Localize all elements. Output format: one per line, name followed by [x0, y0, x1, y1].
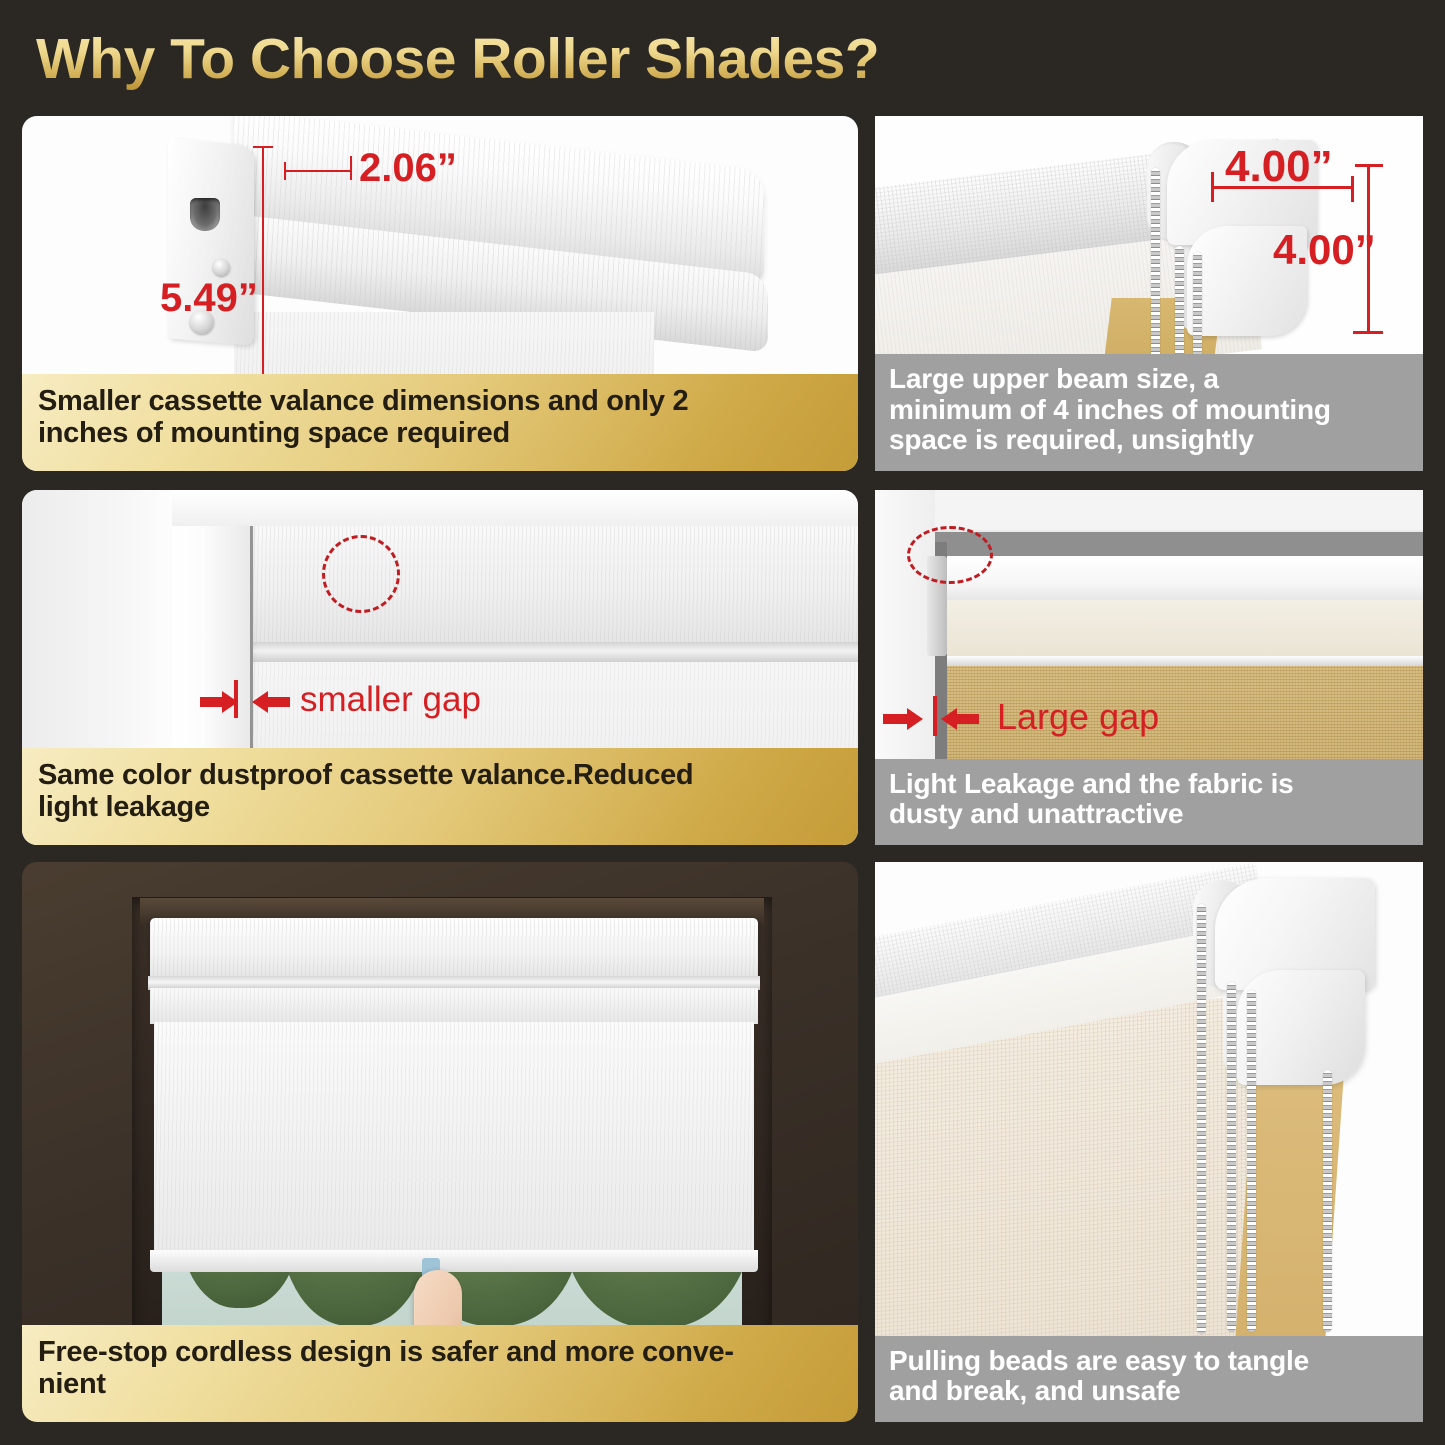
smaller-gap-label: smaller gap: [300, 680, 481, 720]
caption-line: minimum of 4 inches of mounting: [889, 395, 1409, 425]
caption-line: dusty and unattractive: [889, 799, 1409, 829]
panel-1-caption: Smaller cassette valance dimensions and …: [22, 374, 858, 471]
beam-width-label: 4.00”: [1225, 142, 1333, 192]
gap-highlight-ellipse: [907, 526, 993, 584]
panel-4-caption: Light Leakage and the fabric is dusty an…: [875, 759, 1423, 845]
panel-cassette-dimensions: 5.49” 2.06” Smaller cassette valance dim…: [22, 116, 858, 471]
caption-line: nient: [38, 1369, 842, 1400]
panel-pull-beads: Pulling beads are easy to tangle and bre…: [875, 862, 1423, 1422]
caption-line: space is required, unsightly: [889, 425, 1409, 455]
bead-chain-icon: [1247, 990, 1256, 1332]
bead-chain-icon: [1323, 1070, 1332, 1332]
panel-5-caption: Free-stop cordless design is safer and m…: [22, 1325, 858, 1422]
caption-line: inches of mounting space required: [38, 418, 842, 449]
caption-line: and break, and unsafe: [889, 1376, 1409, 1406]
caption-line: Same color dustproof cassette valance.Re…: [38, 760, 842, 791]
height-dimension-line: [262, 146, 264, 408]
caption-line: Smaller cassette valance dimensions and …: [38, 386, 842, 417]
panel-2-caption: Large upper beam size, a minimum of 4 in…: [875, 354, 1423, 471]
gap-arrows-icon: [200, 685, 290, 719]
bead-chain-icon: [1197, 904, 1206, 1334]
width-dimension-label: 2.06”: [359, 146, 457, 191]
gap-arrows-icon: [883, 702, 979, 736]
bead-chain-icon: [1227, 982, 1236, 1332]
caption-line: light leakage: [38, 792, 842, 823]
panel-large-gap: Large gap Light Leakage and the fabric i…: [875, 490, 1423, 845]
beam-height-label: 4.00”: [1273, 226, 1376, 274]
panel-smaller-gap: smaller gap Same color dustproof cassett…: [22, 490, 858, 845]
caption-line: Pulling beads are easy to tangle: [889, 1346, 1409, 1376]
caption-line: Large upper beam size, a: [889, 364, 1409, 394]
panel-large-beam: 4.00” 4.00” Large upper beam size, a min…: [875, 116, 1423, 471]
large-gap-label: Large gap: [997, 696, 1159, 738]
height-dimension-label: 5.49”: [160, 276, 258, 321]
gap-highlight-circle: [322, 535, 400, 613]
panel-3-caption: Same color dustproof cassette valance.Re…: [22, 748, 858, 845]
caption-line: Free-stop cordless design is safer and m…: [38, 1337, 842, 1368]
width-dimension-line: [284, 170, 352, 172]
caption-line: Light Leakage and the fabric is: [889, 769, 1409, 799]
panel-6-caption: Pulling beads are easy to tangle and bre…: [875, 1336, 1423, 1422]
infographic-root: Why To Choose Roller Shades? 5.49” 2.06”…: [0, 0, 1445, 1445]
page-title: Why To Choose Roller Shades?: [36, 26, 879, 92]
panel-cordless-window: Free-stop cordless design is safer and m…: [22, 862, 858, 1422]
